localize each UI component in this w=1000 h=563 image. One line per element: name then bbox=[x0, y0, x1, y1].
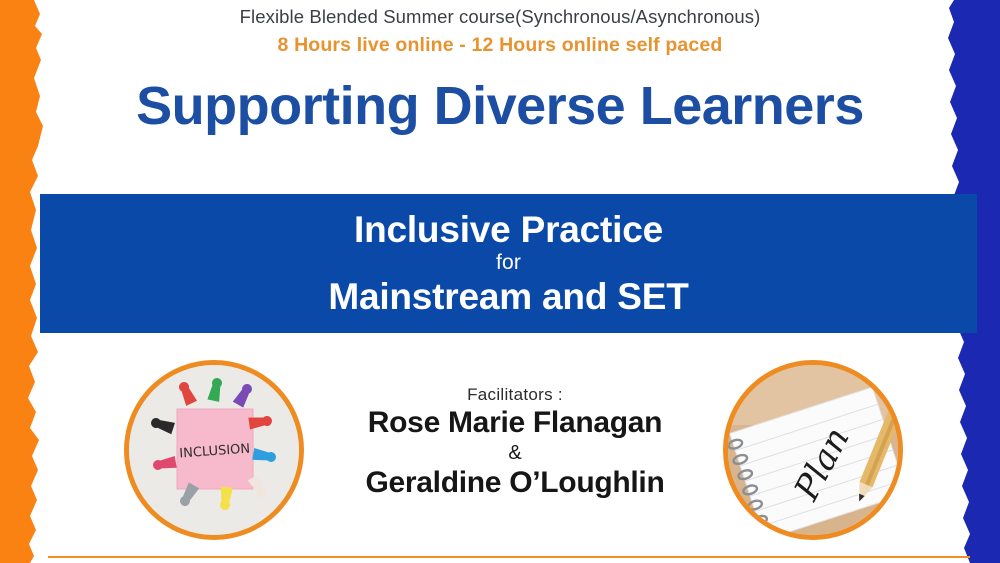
poster-canvas: Flexible Blended Summer course(Synchrono… bbox=[0, 0, 1000, 563]
banner-line-3: Mainstream and SET bbox=[40, 276, 977, 317]
subtitle-banner-text: Inclusive Practice for Mainstream and SE… bbox=[40, 210, 977, 318]
course-hours-line: 8 Hours live online - 12 Hours online se… bbox=[60, 32, 940, 59]
facilitator-separator: & bbox=[300, 442, 730, 465]
banner-line-2: for bbox=[40, 250, 977, 276]
facilitators-block: Facilitators : Rose Marie Flanagan & Ger… bbox=[300, 384, 730, 501]
inclusion-photo-circle: INCLUSION bbox=[124, 360, 304, 540]
facilitator-name-2: Geraldine O’Loughlin bbox=[300, 465, 730, 502]
inclusion-photo-graphic: INCLUSION bbox=[129, 365, 299, 535]
subtitle-banner: Inclusive Practice for Mainstream and SE… bbox=[40, 194, 977, 333]
plan-photo-circle: Plan bbox=[723, 360, 903, 540]
course-format-line: Flexible Blended Summer course(Synchrono… bbox=[60, 4, 940, 31]
header-block: Flexible Blended Summer course(Synchrono… bbox=[60, 4, 940, 59]
facilitators-label: Facilitators : bbox=[300, 384, 730, 405]
bottom-divider bbox=[48, 556, 970, 558]
page-title: Supporting Diverse Learners bbox=[60, 78, 940, 135]
facilitator-name-1: Rose Marie Flanagan bbox=[300, 405, 730, 442]
plan-photo-graphic: Plan bbox=[728, 365, 898, 535]
banner-line-1: Inclusive Practice bbox=[40, 210, 977, 250]
